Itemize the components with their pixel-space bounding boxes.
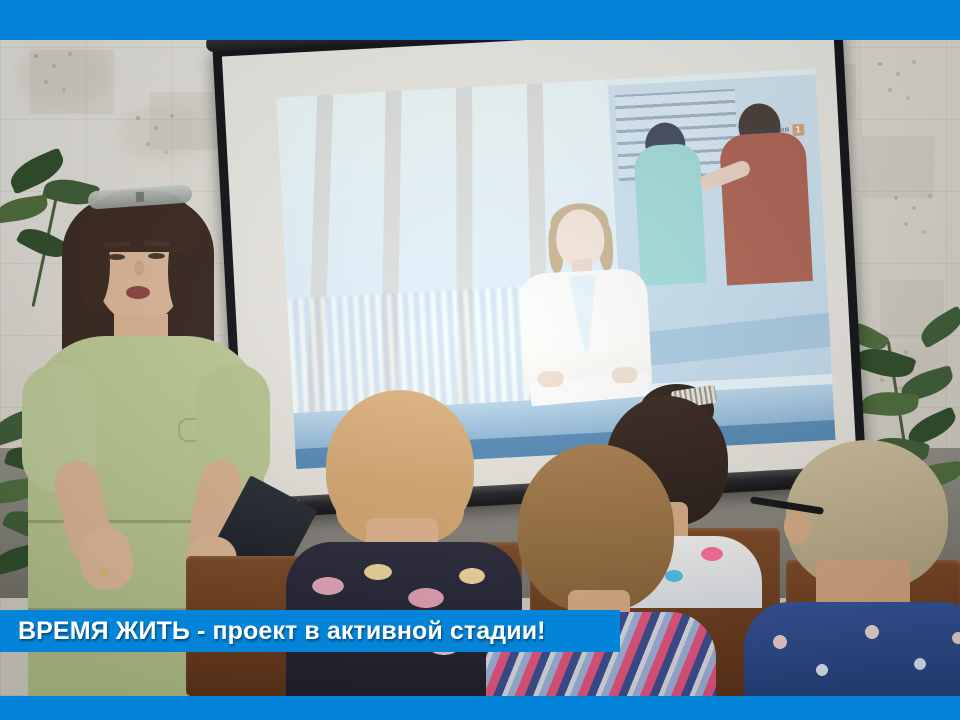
wall-pattern-dots [870,56,930,110]
caption-text: ВРЕМЯ ЖИТЬ - проект в активной стадии! [18,617,546,646]
event-photograph: РОССИЯ 1 [0,40,960,696]
caption-banner: ВРЕМЯ ЖИТЬ - проект в активной стадии! [0,610,620,652]
audience-member-2 [498,444,698,696]
bottom-brand-band [0,696,960,720]
wall-pattern-dots [128,110,188,164]
channel-logo-number: 1 [792,124,804,136]
screenshot-root: РОССИЯ 1 [0,0,960,720]
top-brand-band [0,0,960,40]
news-anchor [511,206,658,423]
wall-pattern-dots [26,48,86,102]
channel-logo: РОССИЯ 1 [759,124,804,138]
wall-pattern-dots [886,190,946,244]
channel-logo-name: РОССИЯ [759,127,790,135]
ring [100,568,109,575]
audience-member-4 [762,440,960,696]
